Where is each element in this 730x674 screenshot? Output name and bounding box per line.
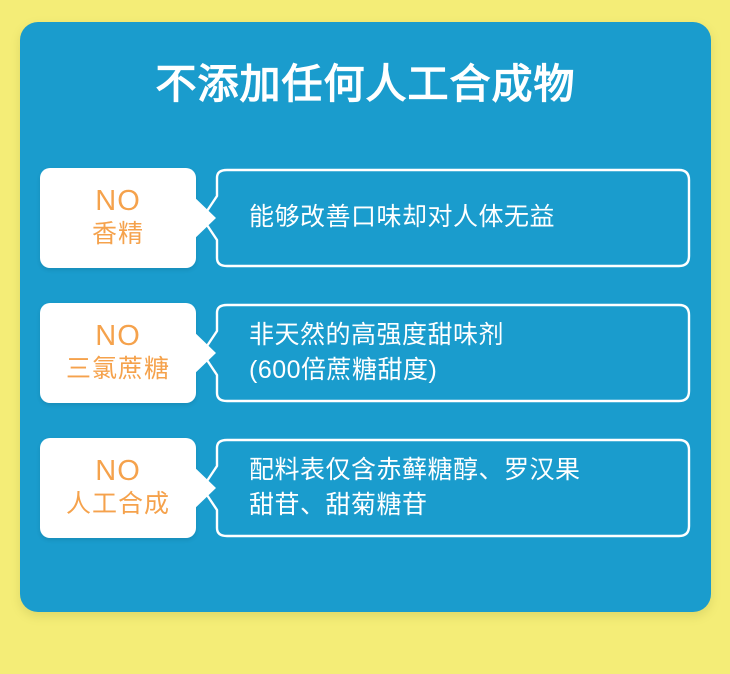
description-box-3: 配料表仅含赤藓糖醇、罗汉果 甜苷、甜菊糖苷 <box>205 438 691 538</box>
description-text-2: 非天然的高强度甜味剂 (600倍蔗糖甜度) <box>249 303 677 403</box>
description-text-1: 能够改善口味却对人体无益 <box>249 168 677 268</box>
no-badge-2: NO 三氯蔗糖 <box>40 303 196 403</box>
list-item: NO 香精 能够改善口味却对人体无益 <box>20 168 711 268</box>
description-box-1: 能够改善口味却对人体无益 <box>205 168 691 268</box>
no-badge-word: NO <box>95 457 141 486</box>
list-item: NO 人工合成 配料表仅含赤藓糖醇、罗汉果 甜苷、甜菊糖苷 <box>20 438 711 538</box>
description-line: 非天然的高强度甜味剂 <box>249 318 677 354</box>
no-badge-1: NO 香精 <box>40 168 196 268</box>
description-line: 甜苷、甜菊糖苷 <box>249 488 677 524</box>
no-badge-subject: 人工合成 <box>66 491 170 519</box>
no-badge-subject: 三氯蔗糖 <box>66 356 170 384</box>
description-text-3: 配料表仅含赤藓糖醇、罗汉果 甜苷、甜菊糖苷 <box>249 438 677 538</box>
no-badge-word: NO <box>95 322 141 351</box>
page-title: 不添加任何人工合成物 <box>20 62 711 107</box>
no-badge-subject: 香精 <box>92 221 144 249</box>
infographic-page: 不添加任何人工合成物 NO 香精 能够改善口味却对人体无益 <box>0 0 730 674</box>
no-badge-word: NO <box>95 187 141 216</box>
description-line: 配料表仅含赤藓糖醇、罗汉果 <box>249 453 677 489</box>
description-box-2: 非天然的高强度甜味剂 (600倍蔗糖甜度) <box>205 303 691 403</box>
list-item: NO 三氯蔗糖 非天然的高强度甜味剂 (600倍蔗糖甜度) <box>20 303 711 403</box>
description-line: (600倍蔗糖甜度) <box>249 353 677 389</box>
main-panel: 不添加任何人工合成物 NO 香精 能够改善口味却对人体无益 <box>20 22 711 612</box>
claims-list: NO 香精 能够改善口味却对人体无益 NO 三氯蔗糖 <box>20 168 711 573</box>
description-line: 能够改善口味却对人体无益 <box>249 200 677 236</box>
no-badge-3: NO 人工合成 <box>40 438 196 538</box>
